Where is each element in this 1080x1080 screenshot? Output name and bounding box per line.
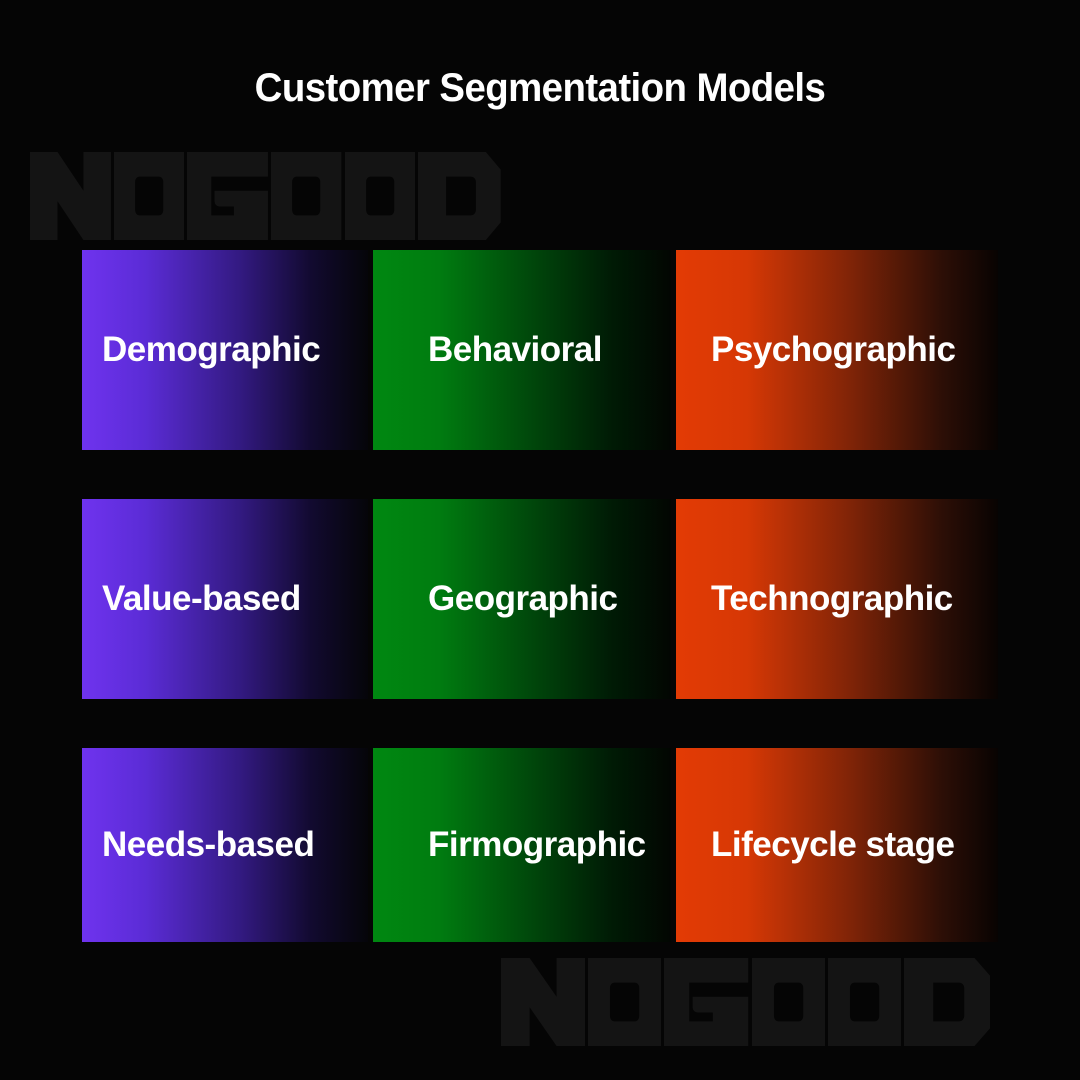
segment-card-label: Psychographic [676, 331, 955, 370]
watermark-letter-o-icon [114, 152, 184, 240]
watermark-letter-o-icon [752, 958, 825, 1046]
segment-card[interactable]: Value-based [82, 499, 368, 699]
segment-card[interactable]: Needs-based [82, 748, 368, 942]
segment-card[interactable]: Lifecycle stage [676, 748, 998, 942]
segment-card-label: Firmographic [373, 826, 646, 865]
segment-card-label: Geographic [373, 580, 617, 619]
segment-card[interactable]: Demographic [82, 250, 368, 450]
segment-card-label: Needs-based [82, 826, 314, 865]
watermark-letter-d-icon [418, 152, 501, 240]
segment-card[interactable]: Technographic [676, 499, 998, 699]
segment-card[interactable]: Firmographic [373, 748, 671, 942]
segment-card-label: Lifecycle stage [676, 826, 954, 865]
watermark-nogood-bottom [501, 958, 990, 1046]
watermark-letter-g-icon [187, 152, 268, 240]
watermark-letter-o-icon [271, 152, 341, 240]
watermark-letter-n-icon [501, 958, 585, 1046]
segment-card[interactable]: Geographic [373, 499, 671, 699]
segmentation-card-grid: DemographicBehavioralPsychographicValue-… [82, 250, 998, 942]
watermark-letter-o-icon [588, 958, 661, 1046]
page-title: Customer Segmentation Models [22, 62, 1059, 114]
segment-card[interactable]: Behavioral [373, 250, 671, 450]
segment-card-label: Value-based [82, 580, 301, 619]
watermark-letter-g-icon [664, 958, 748, 1046]
segment-card-label: Technographic [676, 580, 953, 619]
watermark-nogood-top [30, 152, 501, 240]
watermark-letter-d-icon [904, 958, 990, 1046]
watermark-letter-o-icon [828, 958, 901, 1046]
watermark-letter-o-icon [345, 152, 415, 240]
infographic-canvas: Customer Segmentation Models Demographic… [0, 0, 1080, 1080]
watermark-letter-n-icon [30, 152, 111, 240]
segment-card[interactable]: Psychographic [676, 250, 998, 450]
segment-card-label: Behavioral [373, 331, 602, 370]
segment-card-label: Demographic [82, 331, 320, 370]
